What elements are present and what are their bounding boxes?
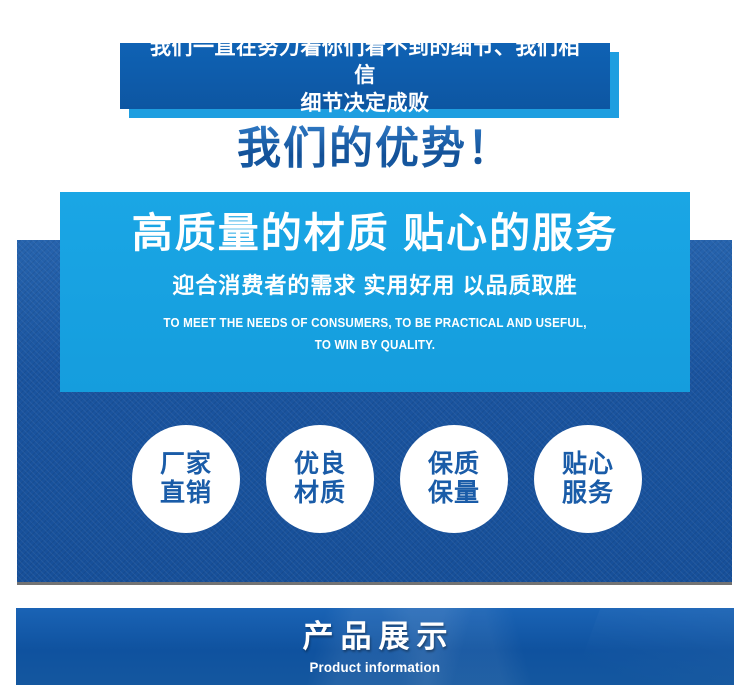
feature-card: 高质量的材质 贴心的服务 迎合消费者的需求 实用好用 以品质取胜 TO MEET… [60,192,690,392]
header-banner: 我们一直在努力着你们看不到的细节、我们相信 细节决定成败 [120,43,610,109]
product-banner-title-cn: 产品展示 [296,620,455,654]
header-banner-line-2: 细节决定成败 [145,90,585,118]
header-banner-text: 我们一直在努力着你们看不到的细节、我们相信 细节决定成败 [145,34,585,117]
header-banner-box: 我们一直在努力着你们看不到的细节、我们相信 细节决定成败 [120,43,610,109]
badge-line-2: 保量 [428,479,480,509]
badge-attentive-service: 贴心 服务 [534,425,642,533]
promo-page: 我们一直在努力着你们看不到的细节、我们相信 细节决定成败 我们的优势！ 高质量的… [0,0,750,692]
badge-line-1: 厂家 [160,450,212,480]
feature-headline: 高质量的材质 贴心的服务 [60,208,690,259]
badge-line-1: 保质 [428,450,480,480]
section-title: 我们的优势！ [0,124,750,175]
badge-quality-material: 优良 材质 [266,425,374,533]
badge-line-1: 优良 [294,450,346,480]
feature-english-line-2: TO WIN BY QUALITY. [82,335,668,357]
badge-row: 厂家 直销 优良 材质 保质 保量 贴心 服务 [132,424,642,534]
badge-guaranteed-quality: 保质 保量 [400,425,508,533]
feature-subhead: 迎合消费者的需求 实用好用 以品质取胜 [60,272,690,301]
header-banner-line-1: 我们一直在努力着你们看不到的细节、我们相信 [145,34,585,89]
feature-english-line-1: TO MEET THE NEEDS OF CONSUMERS, TO BE PR… [82,313,668,335]
badge-line-2: 直销 [160,479,212,509]
product-banner-inner: 产品展示 Product information [16,608,734,685]
badge-factory-direct: 厂家 直销 [132,425,240,533]
product-banner: 产品展示 Product information [16,608,734,685]
feature-english: TO MEET THE NEEDS OF CONSUMERS, TO BE PR… [82,313,668,357]
badge-line-1: 贴心 [562,450,614,480]
badge-line-2: 服务 [562,479,614,509]
badge-line-2: 材质 [294,479,346,509]
product-banner-title-en: Product information [310,659,441,675]
